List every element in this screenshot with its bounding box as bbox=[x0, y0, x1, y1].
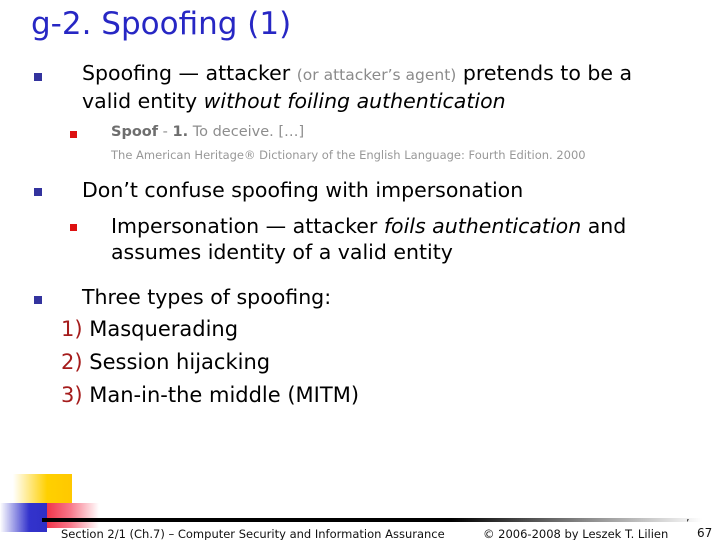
decoration-yellow-block bbox=[13, 474, 72, 504]
list-item-label: Session hijacking bbox=[89, 350, 270, 374]
bullet-marker-level2-dictionary bbox=[70, 131, 77, 138]
bullet-dont-confuse: Don’t confuse spoofing with impersonatio… bbox=[82, 177, 682, 203]
bullet-spoofing-emphasis: without foiling authentication bbox=[204, 89, 506, 113]
bullet-three-types: Three types of spoofing: bbox=[82, 284, 682, 310]
dictionary-term: Spoof bbox=[111, 124, 158, 140]
bullet-marker-level1-impersonation bbox=[34, 188, 42, 196]
slide-canvas: g-2. Spoofing (1) Spoofing — attacker (o… bbox=[0, 0, 720, 540]
dictionary-definition: To deceive. […] bbox=[188, 124, 304, 140]
dictionary-sense-number: 1. bbox=[173, 124, 189, 140]
list-item-label: Man-in-the middle (MITM) bbox=[89, 383, 359, 407]
list-item: 1) Masquerading bbox=[61, 316, 661, 343]
bullet-spoofing-definition: Spoofing — attacker (or attacker’s agent… bbox=[82, 60, 682, 114]
decoration-blue-block bbox=[0, 503, 47, 532]
page-number-tick: ’ bbox=[686, 518, 690, 530]
list-item: 2) Session hijacking bbox=[61, 349, 661, 376]
dictionary-entry: Spoof - 1. To deceive. […] bbox=[111, 123, 671, 141]
list-item-number: 2) bbox=[61, 350, 83, 374]
list-item-number: 3) bbox=[61, 383, 83, 407]
list-item-number: 1) bbox=[61, 317, 83, 341]
list-item: 3) Man-in-the middle (MITM) bbox=[61, 382, 661, 409]
bullet-spoofing-parenthetical: (or attacker’s agent) bbox=[297, 66, 457, 84]
dictionary-sense-separator: - bbox=[158, 124, 172, 140]
bullet-marker-level1 bbox=[34, 73, 42, 81]
bullet-marker-level1-types bbox=[34, 296, 42, 304]
decoration-red-block bbox=[47, 503, 99, 528]
footer-copyright: © 2006-2008 by Leszek T. Lilien bbox=[483, 527, 668, 540]
bullet-impersonation-definition: Impersonation — attacker foils authentic… bbox=[111, 213, 671, 265]
bullet-impersonation-emphasis: foils authentication bbox=[384, 214, 581, 238]
dictionary-citation: The American Heritage® Dictionary of the… bbox=[111, 148, 711, 162]
bullet-impersonation-part1: Impersonation — attacker bbox=[111, 214, 384, 238]
bullet-spoofing-text-part1: Spoofing — attacker bbox=[82, 61, 297, 85]
list-item-label: Masquerading bbox=[89, 317, 238, 341]
footer-divider bbox=[42, 518, 702, 522]
footer-section-text: Section 2/1 (Ch.7) – Computer Security a… bbox=[61, 527, 445, 540]
bullet-marker-level2-impersonation bbox=[70, 224, 77, 231]
page-title: g-2. Spoofing (1) bbox=[31, 4, 691, 44]
page-number: 67 bbox=[697, 526, 712, 540]
